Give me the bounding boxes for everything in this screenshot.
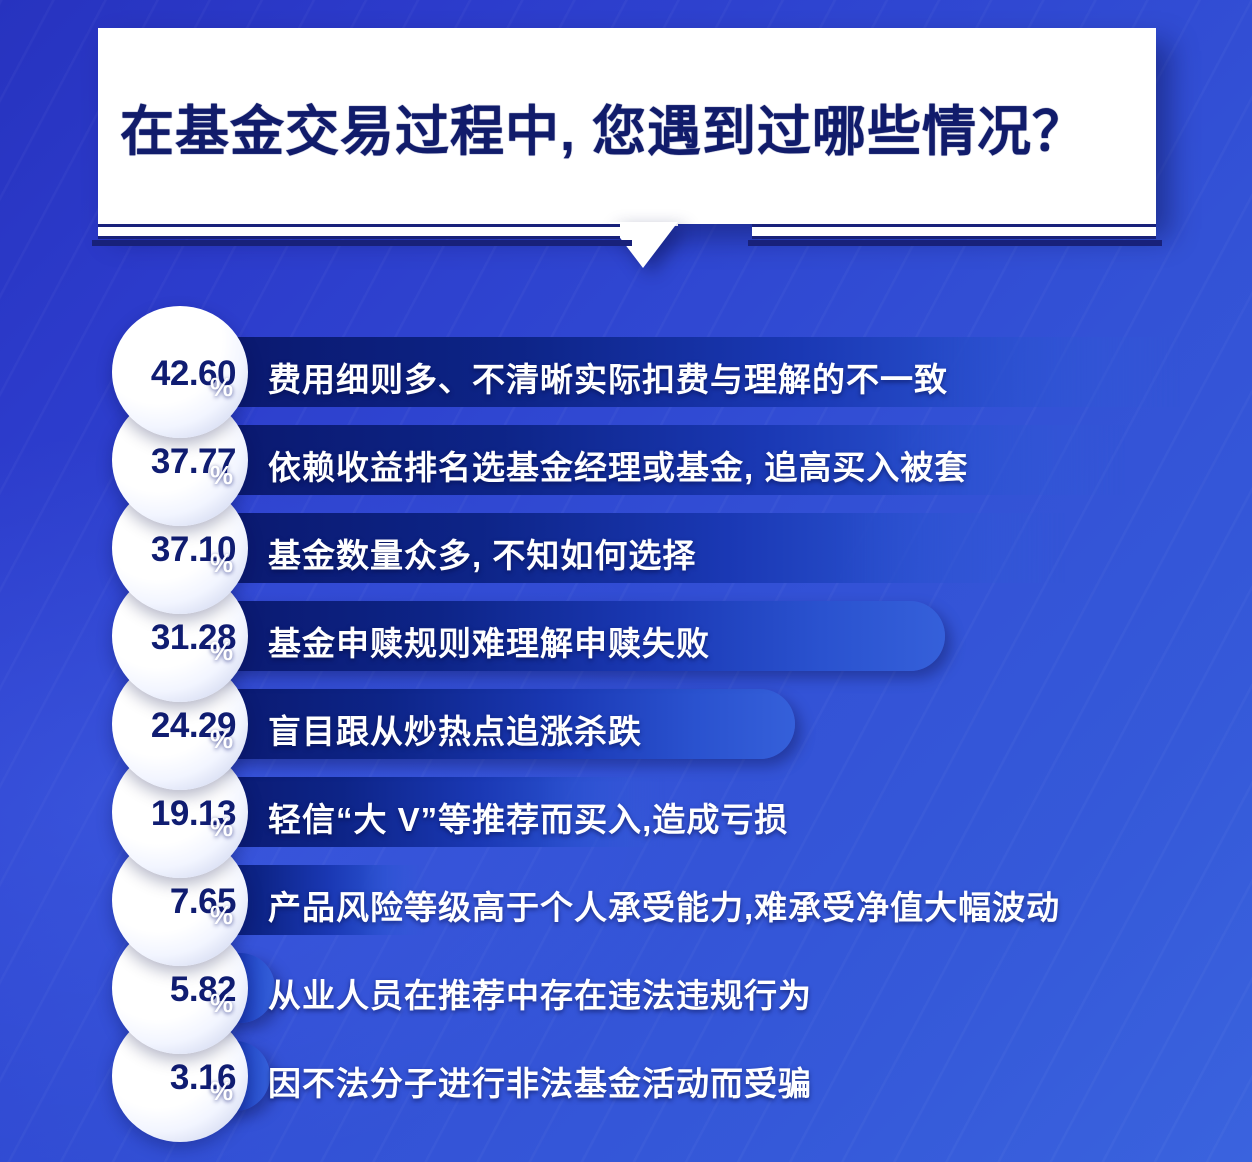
- bar-label: 费用细则多、不清晰实际扣费与理解的不一致: [268, 353, 948, 401]
- bar-label: 基金申赎规则难理解申赎失败: [268, 617, 710, 665]
- percent-sign: %: [210, 812, 233, 843]
- bar-chart: 费用细则多、不清晰实际扣费与理解的不一致42.60%依赖收益排名选基金经理或基金…: [0, 0, 1252, 1162]
- bar-label: 因不法分子进行非法基金活动而受骗: [268, 1057, 812, 1105]
- bar-label: 基金数量众多, 不知如何选择: [268, 529, 696, 577]
- bar-label: 从业人员在推荐中存在违法违规行为: [268, 969, 812, 1017]
- bar-row: 费用细则多、不清晰实际扣费与理解的不一致42.60%: [0, 328, 1252, 416]
- bar-label: 依赖收益排名选基金经理或基金, 追高买入被套: [268, 441, 968, 489]
- infographic-poster: 在基金交易过程中, 您遇到过哪些情况？ 费用细则多、不清晰实际扣费与理解的不一致…: [0, 0, 1252, 1162]
- percent-sign: %: [210, 548, 233, 579]
- percent-sign: %: [210, 900, 233, 931]
- percent-sign: %: [210, 1076, 233, 1107]
- percent-sign: %: [210, 372, 233, 403]
- percent-sign: %: [210, 460, 233, 491]
- percent-sign: %: [210, 724, 233, 755]
- bar-label: 轻信“大 V”等推荐而买入,造成亏损: [268, 793, 788, 841]
- bar-label: 产品风险等级高于个人承受能力,难承受净值大幅波动: [268, 881, 1060, 929]
- bar-label: 盲目跟从炒热点追涨杀跌: [268, 705, 642, 753]
- percent-sign: %: [210, 636, 233, 667]
- percent-sign: %: [210, 988, 233, 1019]
